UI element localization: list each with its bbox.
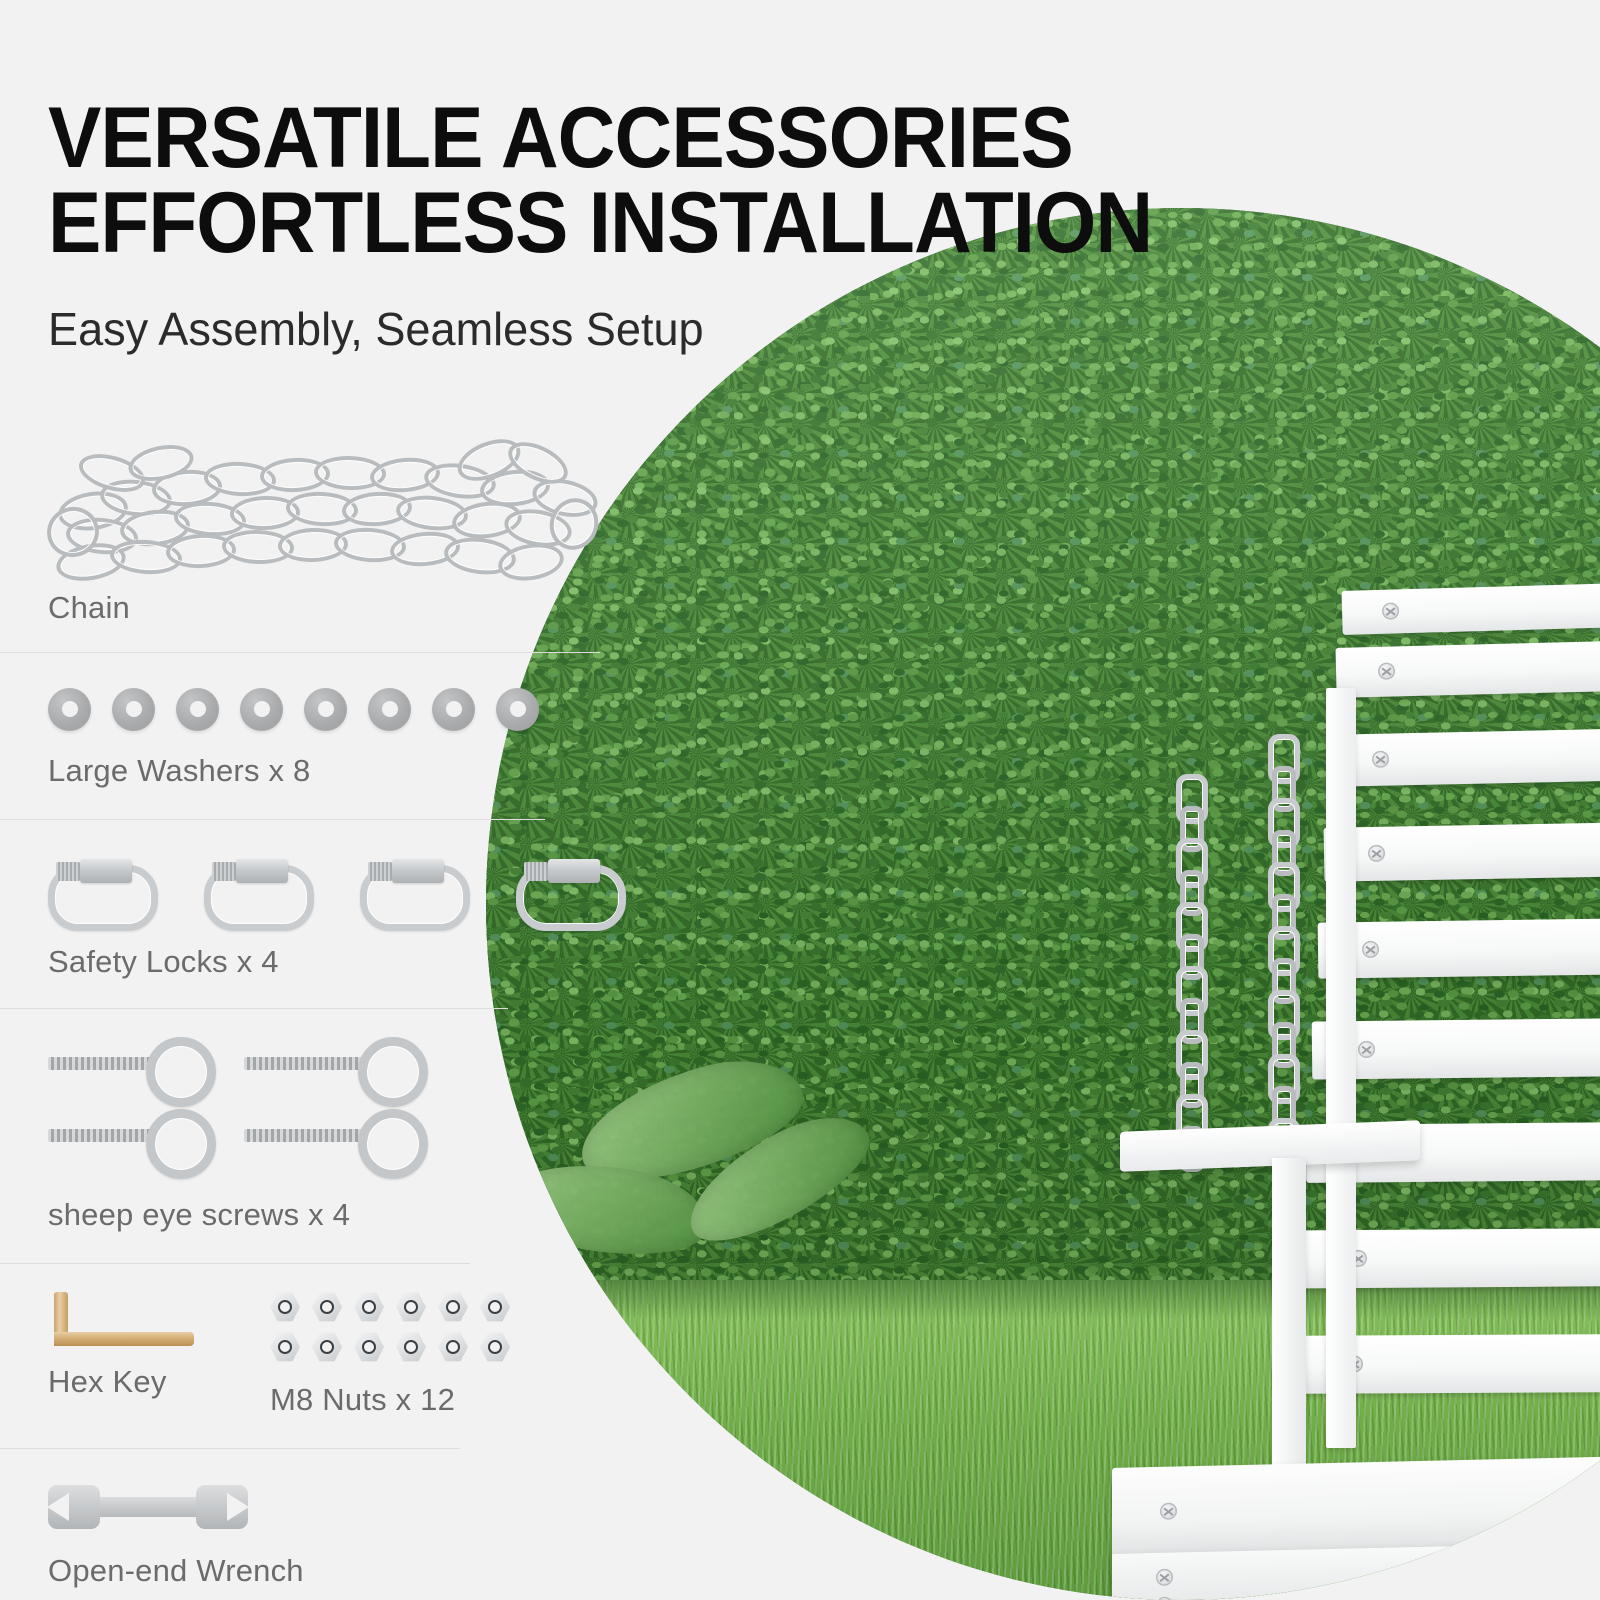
accessory-item-chain: Chain (0, 440, 640, 626)
backrest-slat (1335, 632, 1600, 698)
quick-link-icon (516, 859, 620, 921)
washer-icon-group (48, 681, 640, 737)
eye-screw-icon (244, 1037, 414, 1091)
screw-head (1160, 1503, 1177, 1520)
backrest-post (1326, 688, 1356, 1448)
hex-nut-icon (396, 1332, 426, 1362)
accessory-item-wrench: Open-end Wrench (0, 1449, 640, 1589)
screw-head (1378, 662, 1395, 679)
washer-icon (432, 688, 475, 731)
accessory-label-washers: Large Washers x 8 (48, 753, 640, 789)
infographic-page: VERSATILE ACCESSORIES EFFORTLESS INSTALL… (0, 0, 1600, 1600)
swing-chain-left (1174, 774, 1200, 1474)
chain-coil-icon (48, 440, 588, 590)
headline-line-2: EFFORTLESS INSTALLATION (48, 181, 1043, 266)
accessory-label-safety-locks: Safety Locks x 4 (48, 944, 640, 980)
hex-nut-icon (354, 1332, 384, 1362)
screw-head (1358, 1041, 1375, 1058)
quick-link-icon (360, 859, 464, 921)
washer-icon (176, 688, 219, 731)
armrest-support-post (1272, 1158, 1306, 1488)
accessory-label-wrench: Open-end Wrench (48, 1553, 640, 1589)
subtitle: Easy Assembly, Seamless Setup (48, 302, 1097, 356)
screw-head (1156, 1569, 1173, 1586)
quick-link-icon-group (48, 850, 640, 930)
open-end-wrench-icon (48, 1477, 248, 1539)
eye-screw-icon-group (48, 1037, 518, 1177)
eye-screw-icon (48, 1037, 218, 1091)
quick-link-icon (48, 859, 152, 921)
screw-head (1362, 941, 1379, 958)
hex-nut-icon (312, 1332, 342, 1362)
screw-head (1156, 1597, 1173, 1600)
hex-nut-icon (354, 1292, 384, 1322)
accessory-label-hex-key: Hex Key (48, 1364, 198, 1400)
accessory-label-eye-screws: sheep eye screws x 4 (48, 1197, 640, 1233)
headline-line-1: VERSATILE ACCESSORIES (48, 96, 1043, 181)
hex-nut-icon (270, 1292, 300, 1322)
hex-nut-icon (480, 1292, 510, 1322)
backrest-slat (1342, 573, 1600, 635)
hex-key-icon (48, 1292, 198, 1354)
accessory-list: Chain Large Washers x 8 (0, 440, 640, 1589)
backrest-slat (1318, 913, 1600, 978)
accessory-item-washers: Large Washers x 8 (0, 653, 640, 789)
washer-icon (368, 688, 411, 731)
washer-icon (304, 688, 347, 731)
hex-nut-icon-group (270, 1292, 518, 1366)
hex-nut-icon (396, 1292, 426, 1322)
washer-icon (240, 688, 283, 731)
accessory-label-chain: Chain (48, 590, 640, 626)
eye-screw-icon (244, 1109, 414, 1163)
screw-head (1368, 845, 1385, 862)
washer-icon (496, 688, 539, 731)
washer-icon (48, 688, 91, 731)
hex-nut-icon (438, 1332, 468, 1362)
backrest-slat (1324, 816, 1600, 881)
hex-nut-icon (438, 1292, 468, 1322)
accessory-item-safety-locks: Safety Locks x 4 (0, 820, 640, 980)
hex-nut-icon (312, 1292, 342, 1322)
porch-swing (874, 578, 1600, 1578)
eye-screw-icon (48, 1109, 218, 1163)
product-photo (486, 208, 1600, 1600)
headline-block: VERSATILE ACCESSORIES EFFORTLESS INSTALL… (48, 96, 1118, 356)
hex-nut-icon (480, 1332, 510, 1362)
accessory-item-hexkey-nuts: Hex Key (0, 1264, 640, 1418)
product-photo-panel (486, 208, 1600, 1600)
backrest-slat (1330, 721, 1600, 787)
quick-link-icon (204, 859, 308, 921)
washer-icon (112, 688, 155, 731)
hex-nut-icon (270, 1332, 300, 1362)
accessory-item-eye-screws: sheep eye screws x 4 (0, 1009, 640, 1233)
screw-head (1372, 751, 1389, 768)
screw-head (1382, 602, 1399, 619)
accessory-label-m8-nuts: M8 Nuts x 12 (270, 1382, 518, 1418)
